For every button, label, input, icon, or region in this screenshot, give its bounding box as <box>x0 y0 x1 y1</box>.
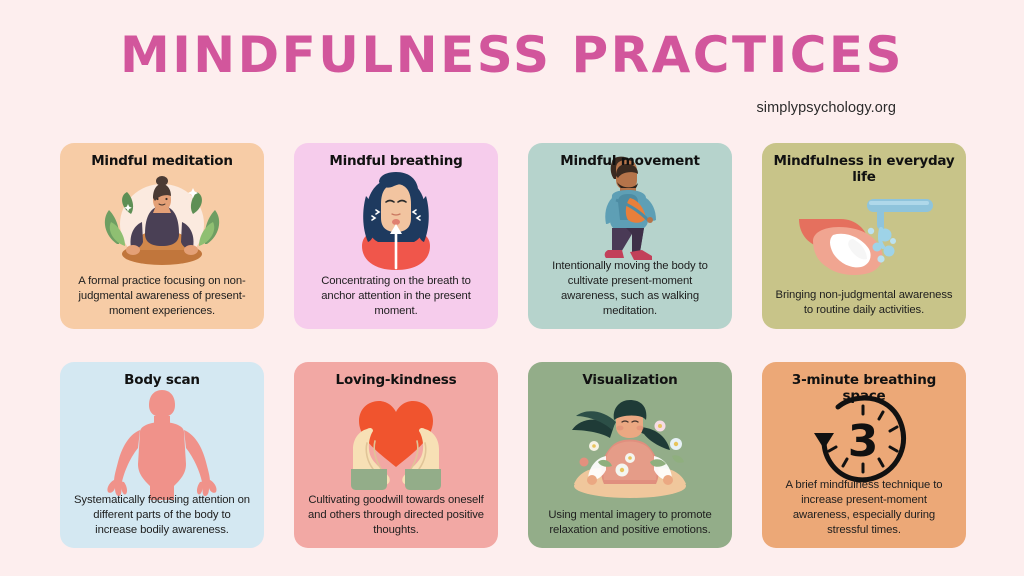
card-title: Mindfulness in everyday life <box>771 153 957 186</box>
card-title: Mindful breathing <box>329 153 462 169</box>
card-description: A formal practice focusing on non-judgme… <box>69 274 255 320</box>
meditating-woman-flowers-icon <box>537 388 723 508</box>
practice-card-mindful-meditation[interactable]: Mindful meditation <box>60 143 264 329</box>
source-attribution: simplypsychology.org <box>0 99 1024 117</box>
card-description: A brief mindfulness technique to increas… <box>771 478 957 539</box>
body-silhouette-icon <box>69 388 255 492</box>
card-title: Visualization <box>582 372 677 388</box>
card-title: Mindful meditation <box>91 153 233 169</box>
card-title: Body scan <box>124 372 200 388</box>
card-description: Bringing non-judgmental awareness to rou… <box>771 288 957 320</box>
card-title: Loving-kindness <box>336 372 457 388</box>
hand-washing-icon <box>771 186 957 288</box>
practice-card-grid: Mindful meditation <box>60 143 966 548</box>
practice-card-body-scan[interactable]: Body scan Systematically focusing attent… <box>60 362 264 548</box>
practice-card-loving-kindness[interactable]: Loving-kindness Cultivating goodwill tow… <box>294 362 498 548</box>
walking-man-icon <box>537 169 723 258</box>
card-description: Using mental imagery to promote relaxati… <box>537 508 723 539</box>
page-title: MINDFULNESS PRACTICES <box>0 30 1024 80</box>
card-title: Mindful movement <box>560 153 700 169</box>
card-title: 3-minute breathing space <box>771 372 957 405</box>
card-description: Cultivating goodwill towards oneself and… <box>303 493 489 539</box>
practice-card-three-minute-breathing-space[interactable]: 3-minute breathing space 3 A brief mindf <box>762 362 966 548</box>
practice-card-visualization[interactable]: Visualization <box>528 362 732 548</box>
heart-in-hands-icon <box>303 388 489 492</box>
header: MINDFULNESS PRACTICES simplypsychology.o… <box>0 0 1024 117</box>
meditating-person-icon <box>69 169 255 273</box>
timer-three-icon: 3 <box>771 405 957 478</box>
source-label: simplypsychology.org <box>756 100 896 116</box>
practice-card-mindful-breathing[interactable]: Mindful breathing Concentrat <box>294 143 498 329</box>
practice-card-mindfulness-everyday-life[interactable]: Mindfulness in everyday life Bringing no… <box>762 143 966 329</box>
card-description: Concentrating on the breath to anchor at… <box>303 274 489 320</box>
card-description: Systematically focusing attention on dif… <box>69 493 255 539</box>
practice-card-mindful-movement[interactable]: Mindful movement Intentional <box>528 143 732 329</box>
svg-text:3: 3 <box>848 416 879 467</box>
breathing-woman-icon <box>303 169 489 273</box>
card-description: Intentionally moving the body to cultiva… <box>537 259 723 320</box>
